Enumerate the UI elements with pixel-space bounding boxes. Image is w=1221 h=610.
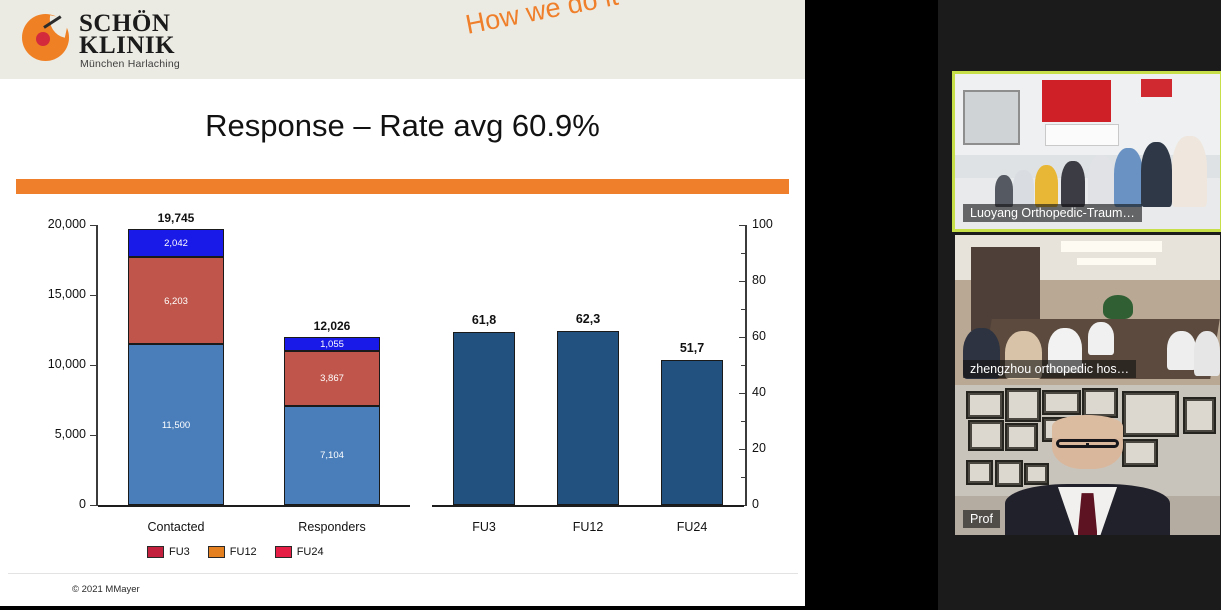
logo-subtitle: München Harlaching [80,58,180,70]
bar-segment: 2,042 [128,229,224,258]
slide-header: SCHÖN KLINIK München Harlaching How we d… [0,0,805,79]
category-label: Contacted [106,520,246,534]
accent-divider [16,179,789,194]
right-plot-baseline [432,505,744,507]
legend-swatch [275,546,292,558]
bar-segment: 7,104 [284,406,380,505]
left-axis-tick [90,365,96,367]
bar-total-label: 19,745 [128,211,224,225]
bar-segment-label: 2,042 [129,238,223,249]
left-axis-tick-label: 0 [0,497,86,511]
right-axis-tick-label: 40 [752,385,792,399]
video-tile-rail: Luoyang Orthopedic-Traum… zhengzhou orth… [938,0,1221,610]
video-tile[interactable]: zhengzhou orthopedic hos… [955,235,1220,385]
percent-bar-label: 61,8 [433,313,535,327]
bar-segment: 3,867 [284,351,380,405]
bar-segment-label: 11,500 [129,420,223,431]
left-axis-tick-label: 20,000 [0,217,86,231]
left-axis-tick-label: 5,000 [0,427,86,441]
right-axis-tick-label: 20 [752,441,792,455]
right-axis-tick [741,477,746,479]
footer-divider [8,573,798,574]
percent-bar-label: 51,7 [641,341,743,355]
slide-kicker: How we do it [463,0,621,41]
right-axis-tick [739,281,746,283]
right-axis-tick-label: 80 [752,273,792,287]
left-axis-tick-label: 10,000 [0,357,86,371]
legend-label: FU3 [169,546,190,558]
percent-bar [557,331,619,505]
bar-segment-label: 7,104 [285,450,379,461]
response-rate-chart: 05,00010,00015,00020,00002040608010011,5… [0,205,805,555]
left-axis-line [96,225,98,506]
left-axis-tick [90,295,96,297]
copyright-notice: © 2021 MMayer [72,584,140,595]
logo-line-2: KLINIK [79,32,175,60]
category-label: FU24 [622,520,762,534]
left-axis-tick [90,435,96,437]
right-axis-tick [739,225,746,227]
tile-caption: Prof [963,510,1000,528]
tile-caption: Luoyang Orthopedic-Traum… [963,204,1142,222]
video-tile[interactable]: Prof [955,385,1220,535]
right-axis-tick-label: 60 [752,329,792,343]
right-axis-tick-label: 100 [752,217,792,231]
legend-label: FU24 [297,546,324,558]
tile-caption: zhengzhou orthopedic hos… [963,360,1136,378]
legend-item: FU3 [147,546,190,558]
right-axis-tick [741,365,746,367]
category-label: Responders [262,520,402,534]
right-axis-tick [739,449,746,451]
right-axis-tick [741,253,746,255]
right-axis-tick [741,309,746,311]
right-axis-tick-label: 0 [752,497,792,511]
chart-legend: FU3FU12FU24 [147,546,324,558]
presentation-slide: SCHÖN KLINIK München Harlaching How we d… [0,0,805,606]
legend-swatch [147,546,164,558]
percent-bar [661,360,723,505]
bar-segment-label: 1,055 [285,339,379,350]
percent-bar [453,332,515,505]
legend-item: FU24 [275,546,324,558]
meeting-screen: SCHÖN KLINIK München Harlaching How we d… [0,0,1221,610]
left-axis-tick-label: 15,000 [0,287,86,301]
right-axis-tick [739,393,746,395]
bar-segment: 1,055 [284,337,380,352]
right-axis-tick [739,337,746,339]
legend-swatch [208,546,225,558]
right-axis-tick [741,421,746,423]
schoen-klinik-logo: SCHÖN KLINIK München Harlaching [22,12,197,70]
video-tile[interactable]: Luoyang Orthopedic-Traum… [955,74,1220,229]
left-plot-baseline [98,505,410,507]
legend-item: FU12 [208,546,257,558]
left-axis-tick [90,505,96,507]
bar-segment-label: 3,867 [285,373,379,384]
logo-mark-icon [22,14,69,61]
page-title: Response – Rate avg 60.9% [0,108,805,144]
bar-segment: 6,203 [128,257,224,344]
bar-segment-label: 6,203 [129,296,223,307]
bar-segment: 11,500 [128,344,224,505]
bar-total-label: 12,026 [284,319,380,333]
legend-label: FU12 [230,546,257,558]
percent-bar-label: 62,3 [537,312,639,326]
left-axis-tick [90,225,96,227]
